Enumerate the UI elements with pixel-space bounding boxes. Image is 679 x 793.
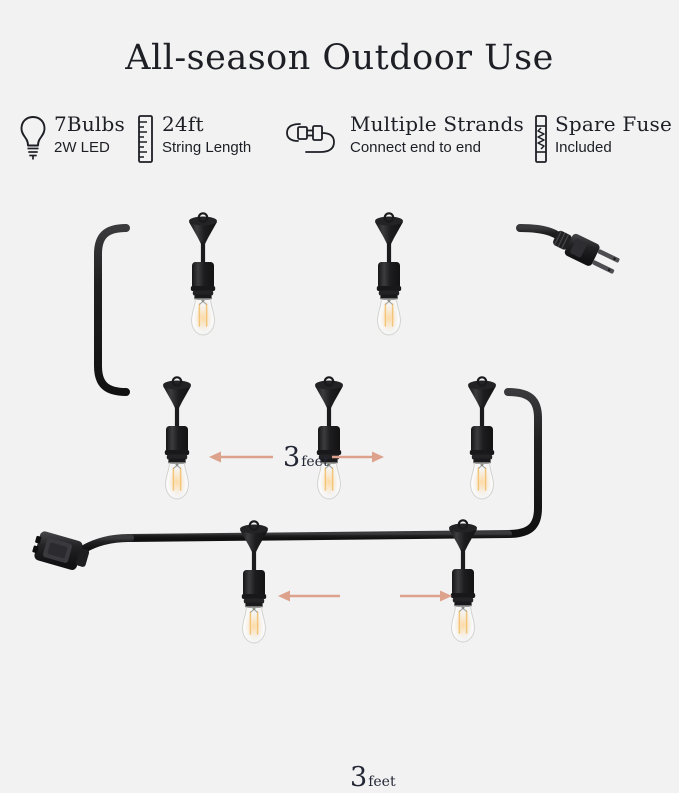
feature-strands: Multiple Strands Connect end to end xyxy=(286,112,524,170)
feature-bulbs: 7Bulbs 2W LED xyxy=(18,112,125,170)
feature-bulbs-main: 7Bulbs xyxy=(54,112,125,136)
feature-bulbs-sub: 2W LED xyxy=(54,138,125,157)
feature-length-main: 24ft xyxy=(162,112,251,136)
feature-row: 7Bulbs 2W LED 24ft xyxy=(0,112,679,174)
lightbulb-icon xyxy=(18,114,48,167)
ruler-icon xyxy=(136,114,156,169)
string-light-svg xyxy=(0,186,679,679)
female-socket-icon xyxy=(30,529,91,573)
measure-label-top: 3 feet xyxy=(283,444,329,471)
measure-label-bottom: 3 feet xyxy=(350,764,396,791)
page-title: All-season Outdoor Use xyxy=(0,38,679,78)
fuse-icon xyxy=(533,114,549,169)
plug-connector-icon xyxy=(286,114,344,169)
feature-strands-sub: Connect end to end xyxy=(350,138,524,157)
product-infographic: All-season Outdoor Use 7Bulbs 2W LED xyxy=(0,0,679,679)
feature-fuse-main: Spare Fuse xyxy=(555,112,672,136)
feature-fuse: Spare Fuse Included xyxy=(533,112,672,170)
feature-length: 24ft String Length xyxy=(136,112,251,170)
feature-fuse-sub: Included xyxy=(555,138,672,157)
feature-strands-main: Multiple Strands xyxy=(350,112,524,136)
measure-top-number: 3 xyxy=(283,444,300,471)
male-plug-icon xyxy=(550,226,622,277)
measure-bottom-unit: feet xyxy=(368,775,395,789)
measure-bottom-number: 3 xyxy=(350,764,367,791)
string-light-diagram: 3 feet 3 feet xyxy=(0,186,679,679)
feature-length-sub: String Length xyxy=(162,138,251,157)
measure-arrows-bottom xyxy=(278,591,452,602)
measure-top-unit: feet xyxy=(301,455,328,469)
